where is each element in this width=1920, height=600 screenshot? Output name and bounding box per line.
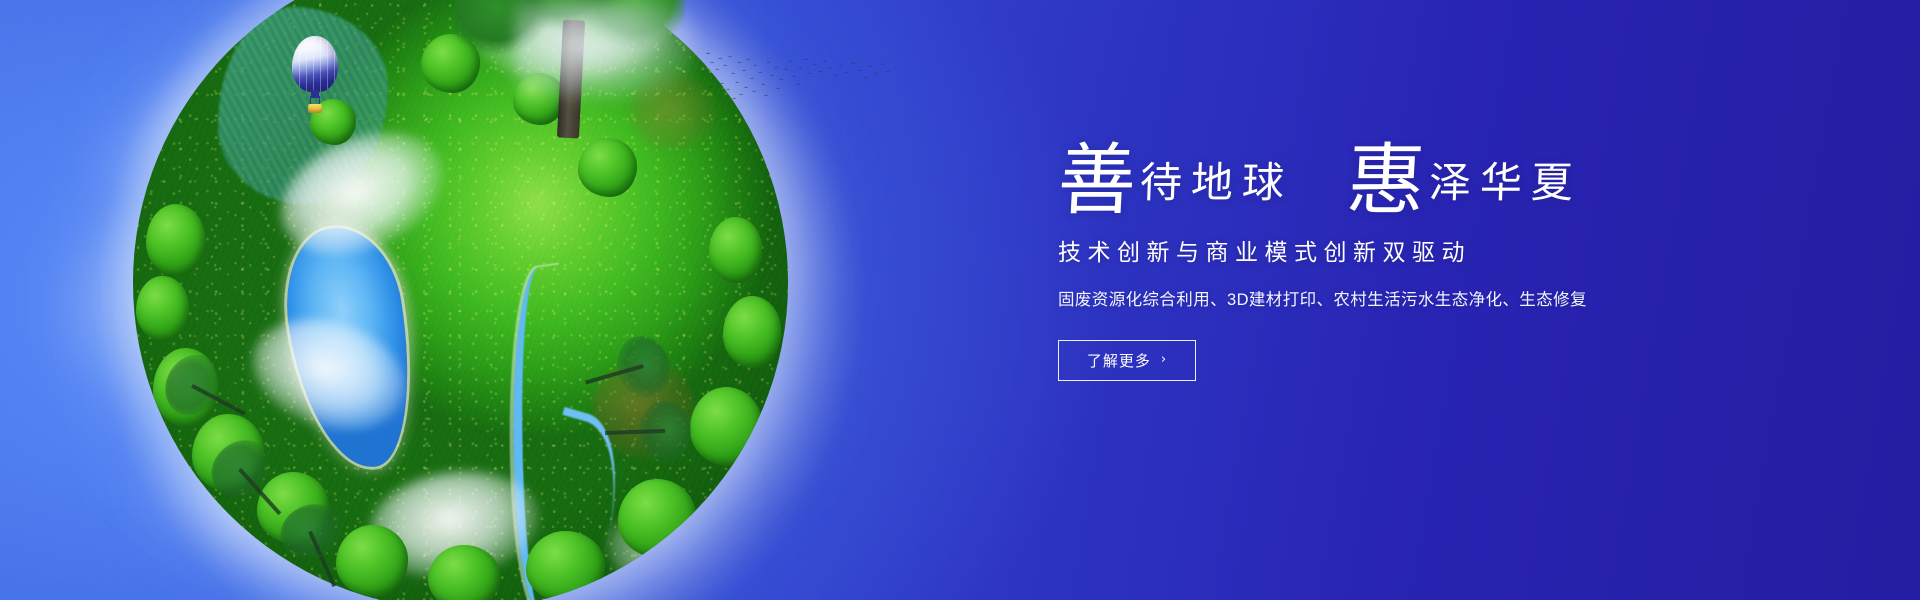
river <box>507 265 571 600</box>
river-branch <box>510 406 640 600</box>
headline-text-zehuaxia: 泽华夏 <box>1428 163 1582 205</box>
large-tree-icon <box>455 0 685 135</box>
hot-air-balloon-icon <box>292 36 340 114</box>
bird-flock-icon <box>706 52 896 114</box>
headline-char-shan: 善 <box>1056 145 1138 217</box>
learn-more-label: 了解更多 <box>1087 350 1151 371</box>
hero-subtitle: 技术创新与商业模式创新双驱动 <box>1058 233 1758 267</box>
rim-tree <box>578 138 637 197</box>
rim-tree <box>336 525 408 597</box>
cloud-wisp-bottom-left <box>72 382 528 600</box>
surface-cloud <box>362 461 545 588</box>
page-title: 善 待地球 惠 泽华夏 <box>1058 139 1758 211</box>
surface-cloud <box>262 109 463 280</box>
surface-cloud <box>239 300 421 448</box>
headline-text-didiqiu: 待地球 <box>1139 163 1293 205</box>
rim-tree <box>709 217 761 283</box>
rim-tree <box>526 531 605 600</box>
lake <box>275 219 426 476</box>
rim-tree <box>618 479 697 558</box>
lake-shoreline <box>260 204 444 492</box>
rim-tree <box>146 204 205 276</box>
chevron-right-icon: › <box>1161 353 1167 366</box>
learn-more-button[interactable]: 了解更多 › <box>1058 340 1196 381</box>
cloud-wisp-left <box>0 92 416 507</box>
surface-cloud <box>593 492 773 600</box>
headline-char-hui: 惠 <box>1345 145 1427 217</box>
rim-tree <box>690 387 762 466</box>
hero-copy: 善 待地球 惠 泽华夏 技术创新与商业模式创新双驱动 固废资源化综合利用、3D建… <box>1058 139 1758 381</box>
rim-tree <box>428 545 500 600</box>
rim-tree <box>723 296 782 368</box>
hero-banner: 善 待地球 惠 泽华夏 技术创新与商业模式创新双驱动 固废资源化综合利用、3D建… <box>0 0 1920 600</box>
rim-tree <box>136 276 188 342</box>
hero-description: 固废资源化综合利用、3D建材打印、农村生活污水生态净化、生态修复 <box>1058 286 1758 310</box>
